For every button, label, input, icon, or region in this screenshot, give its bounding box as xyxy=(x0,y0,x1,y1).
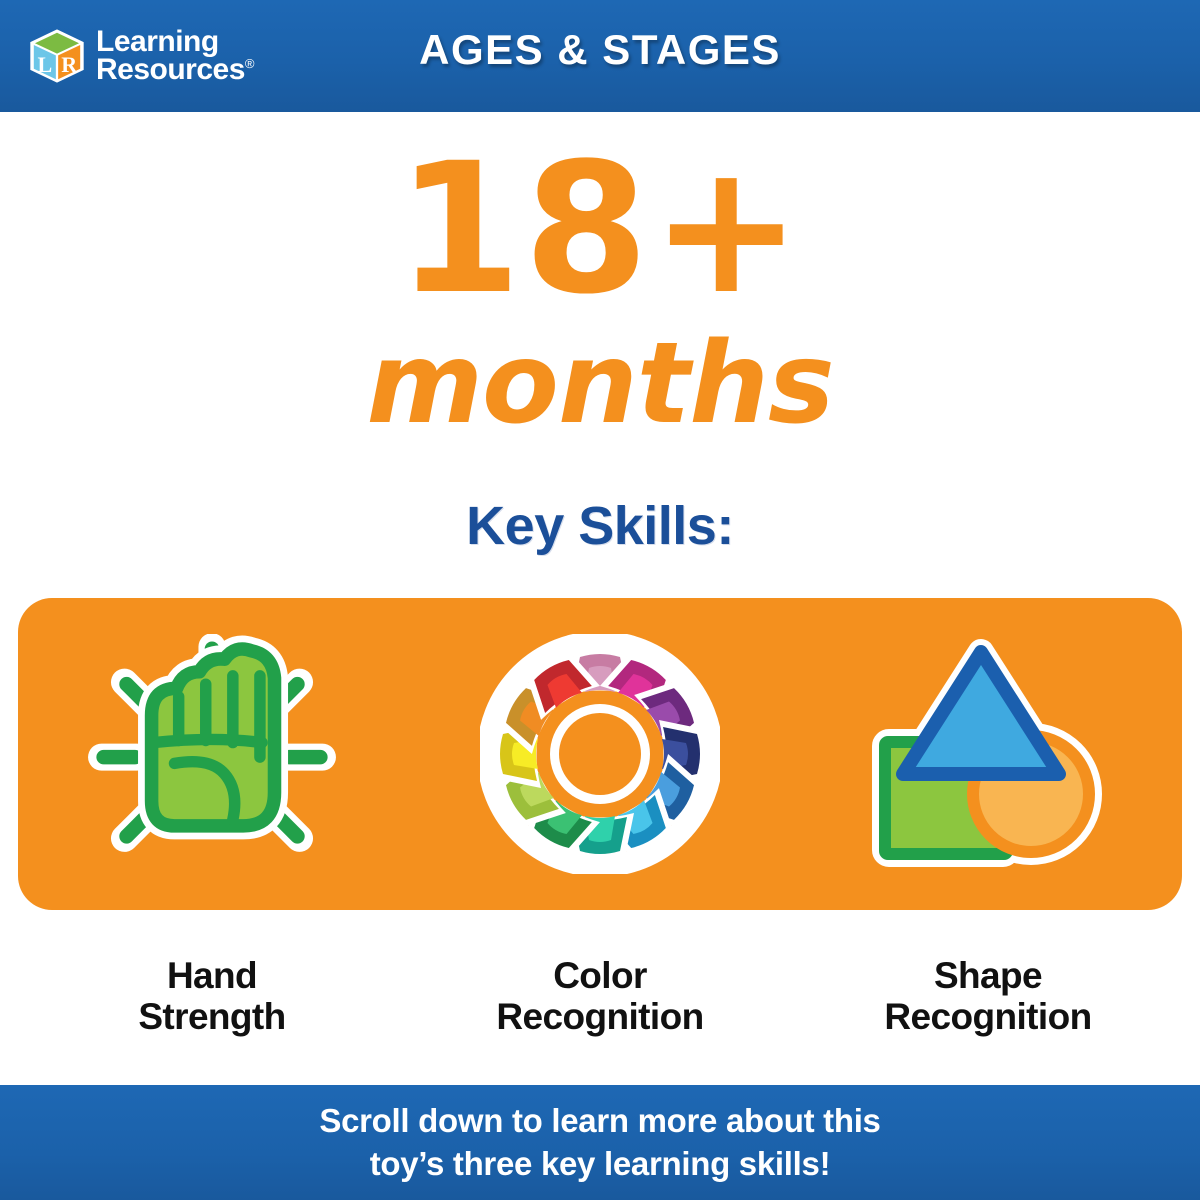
skill-label-line-1: Color xyxy=(450,955,750,996)
footer-line-1: Scroll down to learn more about this xyxy=(319,1100,880,1142)
color-wheel-icon xyxy=(480,634,720,874)
skill-label-shape-recognition: Shape Recognition xyxy=(838,955,1138,1038)
skill-label-hand-strength: Hand Strength xyxy=(62,955,362,1038)
skill-icon-shape-recognition xyxy=(838,629,1138,879)
age-number: 18+ xyxy=(0,140,1200,320)
page-title: AGES & STAGES xyxy=(0,26,1200,74)
key-skills-heading: Key Skills: xyxy=(0,495,1200,557)
skill-icon-hand-strength xyxy=(62,629,362,879)
skill-label-line-1: Hand xyxy=(62,955,362,996)
skill-label-line-1: Shape xyxy=(838,955,1138,996)
skill-label-line-2: Recognition xyxy=(838,996,1138,1037)
skill-label-line-2: Recognition xyxy=(450,996,750,1037)
fist-strength-icon xyxy=(87,634,337,874)
skill-icon-color-recognition xyxy=(450,629,750,879)
skill-labels-row: Hand Strength Color Recognition Shape Re… xyxy=(18,955,1182,1038)
footer-line-2: toy’s three key learning skills! xyxy=(370,1143,831,1185)
age-unit: months xyxy=(0,328,1200,440)
shapes-icon xyxy=(863,634,1113,874)
skill-label-line-2: Strength xyxy=(62,996,362,1037)
footer-band: Scroll down to learn more about this toy… xyxy=(0,1085,1200,1200)
header-band: L R Learning Resources® AGES & STAGES xyxy=(0,0,1200,112)
key-skills-panel xyxy=(18,598,1182,910)
age-hero: 18+ months xyxy=(0,140,1200,440)
skill-label-color-recognition: Color Recognition xyxy=(450,955,750,1038)
